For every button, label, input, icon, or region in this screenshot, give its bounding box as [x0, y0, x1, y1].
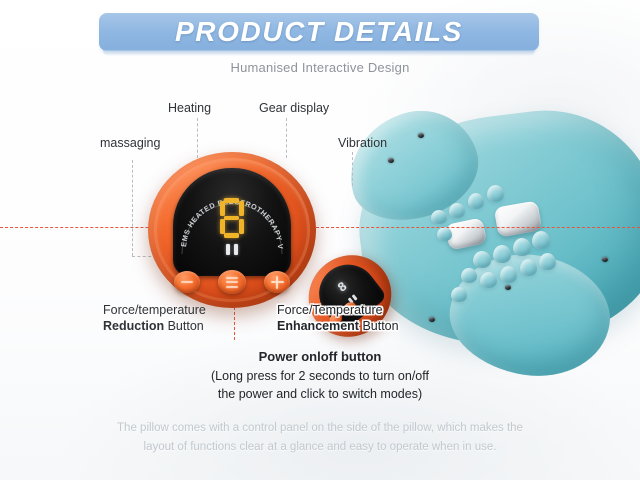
sensor-dot	[418, 133, 424, 138]
minus-button[interactable]	[174, 271, 200, 293]
massage-nub	[449, 203, 465, 218]
callout-reduction-button: Force/temperature Reduction Button	[103, 303, 206, 334]
callout-enhancement-line2: Enhancement Button	[277, 319, 399, 335]
massage-nub	[487, 185, 504, 202]
callout-power-desc-line1: (Long press for 2 seconds to turn on/off	[0, 367, 640, 385]
control-panel-button-row	[174, 270, 290, 294]
leader-line-vibration-v	[352, 152, 353, 186]
callout-vibration: Vibration	[338, 136, 387, 152]
massage-nub	[437, 227, 452, 241]
gear-display-digit-secondary: 8	[335, 278, 351, 295]
footer-line-2: layout of functions clear at a glance an…	[0, 438, 640, 458]
callout-gear-display: Gear display	[259, 101, 329, 117]
header-banner: PRODUCT DETAILS	[99, 13, 539, 51]
page-title: PRODUCT DETAILS	[175, 16, 463, 48]
gear-display-digit	[219, 198, 245, 238]
massage-nub	[461, 268, 477, 283]
callout-heating: Heating	[168, 101, 211, 117]
sensor-dot	[602, 257, 608, 262]
power-menu-icon	[226, 277, 238, 288]
minus-icon	[181, 281, 193, 283]
plus-button[interactable]	[264, 271, 290, 293]
massage-nub	[513, 238, 531, 256]
power-mode-button[interactable]	[218, 270, 246, 294]
sensor-dot	[429, 317, 435, 322]
callout-massaging: massaging	[100, 136, 160, 152]
callout-reduction-line1: Force/temperature	[103, 303, 206, 319]
massage-nub	[539, 253, 556, 270]
callout-power-title: Power onloff button	[0, 348, 640, 367]
massage-nub	[473, 251, 491, 268]
control-panel-display-face: EMS HEATED ELECTROTHERAPY VIBRATION MASS…	[173, 168, 291, 276]
massage-nub	[500, 266, 517, 283]
callout-power-button: Power onloff button (Long press for 2 se…	[0, 348, 640, 403]
massage-nub	[520, 259, 537, 276]
leader-line-reduction-h	[0, 227, 640, 228]
page-subtitle: Humanised Interactive Design	[0, 60, 640, 75]
leader-line-heating-v	[197, 118, 198, 158]
product-detail-image: PRODUCT DETAILS Humanised Interactive De…	[0, 0, 640, 480]
massage-nub	[468, 193, 484, 209]
massage-nub	[451, 287, 467, 302]
callout-enhancement-button: Force/Temperature Enhancement Button	[277, 303, 399, 334]
massage-nub	[480, 272, 497, 288]
callout-reduction-line2: Reduction Button	[103, 319, 206, 335]
callout-power-desc-line2: the power and click to switch modes)	[0, 385, 640, 403]
callout-enhancement-line1: Force/Temperature	[277, 303, 399, 319]
plus-icon	[271, 276, 284, 289]
massage-nub	[431, 210, 447, 224]
sensor-dot	[505, 285, 511, 290]
massage-nub	[493, 245, 511, 263]
massage-nub	[532, 231, 550, 249]
footer-caption: The pillow comes with a control panel on…	[0, 419, 640, 458]
mode-indicator-bars	[226, 244, 238, 255]
sensor-dot	[388, 158, 394, 163]
leader-line-massaging-v	[132, 160, 133, 256]
control-panel: EMS HEATED ELECTROTHERAPY VIBRATION MASS…	[148, 152, 316, 308]
footer-line-1: The pillow comes with a control panel on…	[0, 419, 640, 439]
leader-line-gear-v	[286, 118, 287, 158]
